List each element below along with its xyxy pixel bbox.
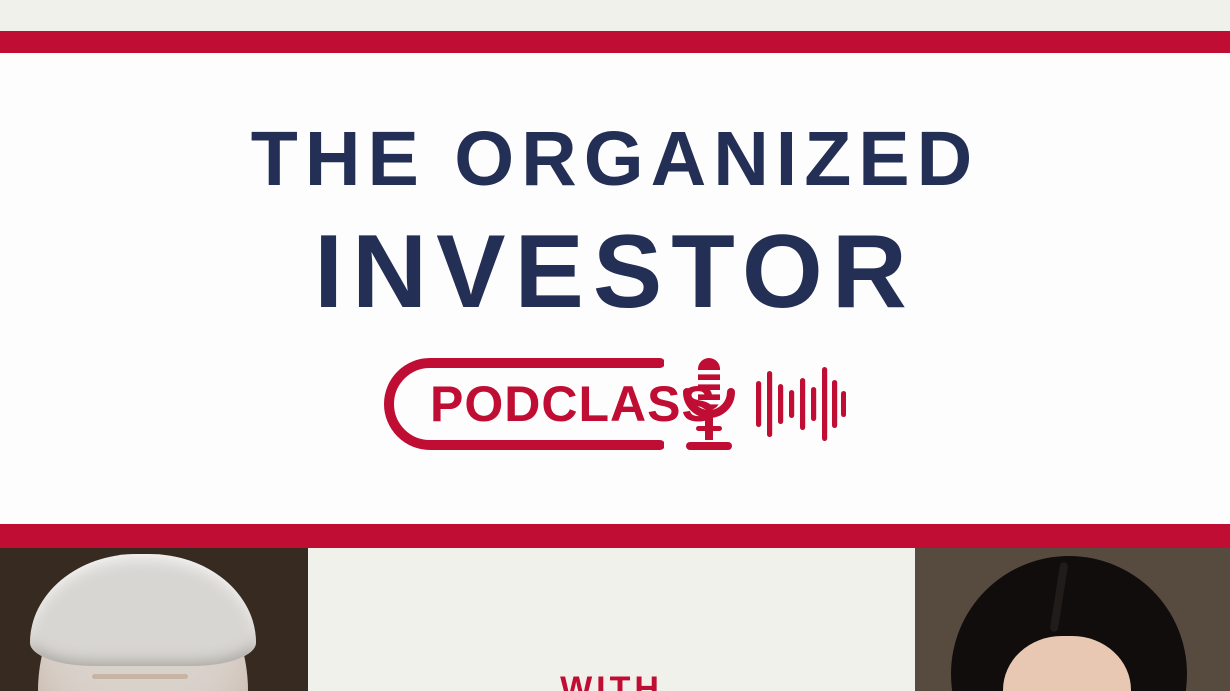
center-caption-panel: WITH <box>308 548 915 691</box>
top-background-strip <box>0 0 1230 31</box>
host-portrait-right <box>915 548 1230 691</box>
host-portrait-left <box>0 548 308 691</box>
hosts-band: WITH <box>0 548 1230 691</box>
podclass-lockup: PODCLASS <box>384 354 846 454</box>
host-left-brow <box>92 674 188 679</box>
podcast-cover-art: THE ORGANIZED INVESTOR PODCLASS <box>0 0 1230 691</box>
waveform-icon <box>754 358 846 450</box>
top-red-rule <box>0 31 1230 53</box>
title-block: THE ORGANIZED INVESTOR PODCLASS <box>0 53 1230 524</box>
title-line-two: INVESTOR <box>314 220 916 324</box>
podclass-badge: PODCLASS <box>384 354 664 454</box>
podclass-wordmark: PODCLASS <box>430 379 716 429</box>
host-left-hair <box>30 554 256 666</box>
with-label: WITH <box>308 672 915 691</box>
bottom-red-rule <box>0 524 1230 548</box>
title-line-one: THE ORGANIZED <box>251 121 979 198</box>
